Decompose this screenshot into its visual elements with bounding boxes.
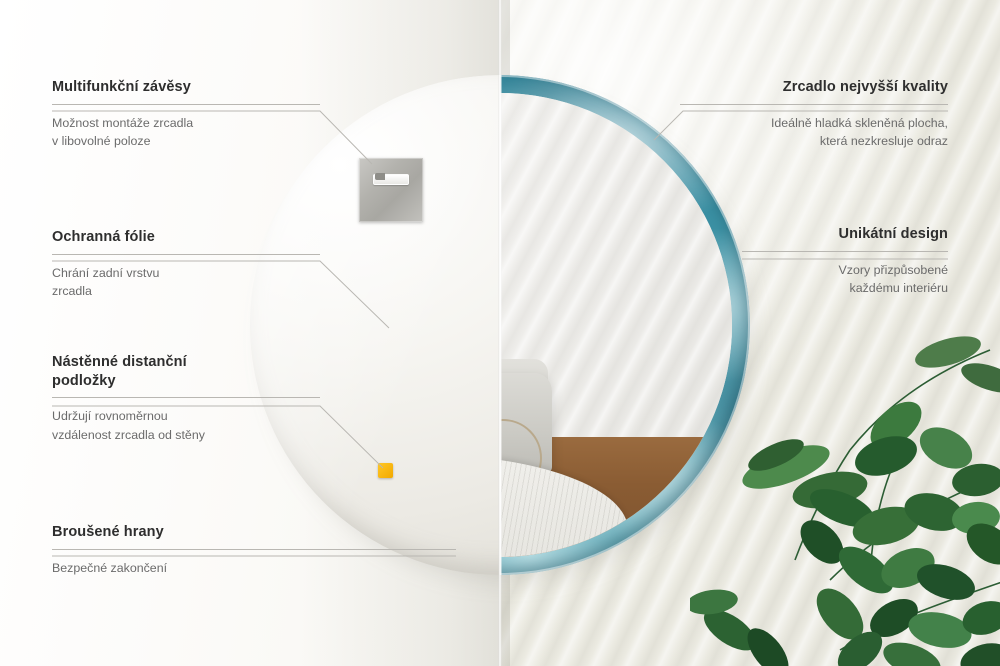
infographic-canvas: Multifunkční závěsy Možnost montáže zrca… [0, 0, 1000, 666]
callout-line-glass [654, 111, 948, 140]
callout-line-hanger [52, 111, 372, 164]
callout-line-foil [52, 261, 389, 328]
callout-lines [0, 0, 1000, 666]
callout-line-spacer [52, 406, 383, 468]
